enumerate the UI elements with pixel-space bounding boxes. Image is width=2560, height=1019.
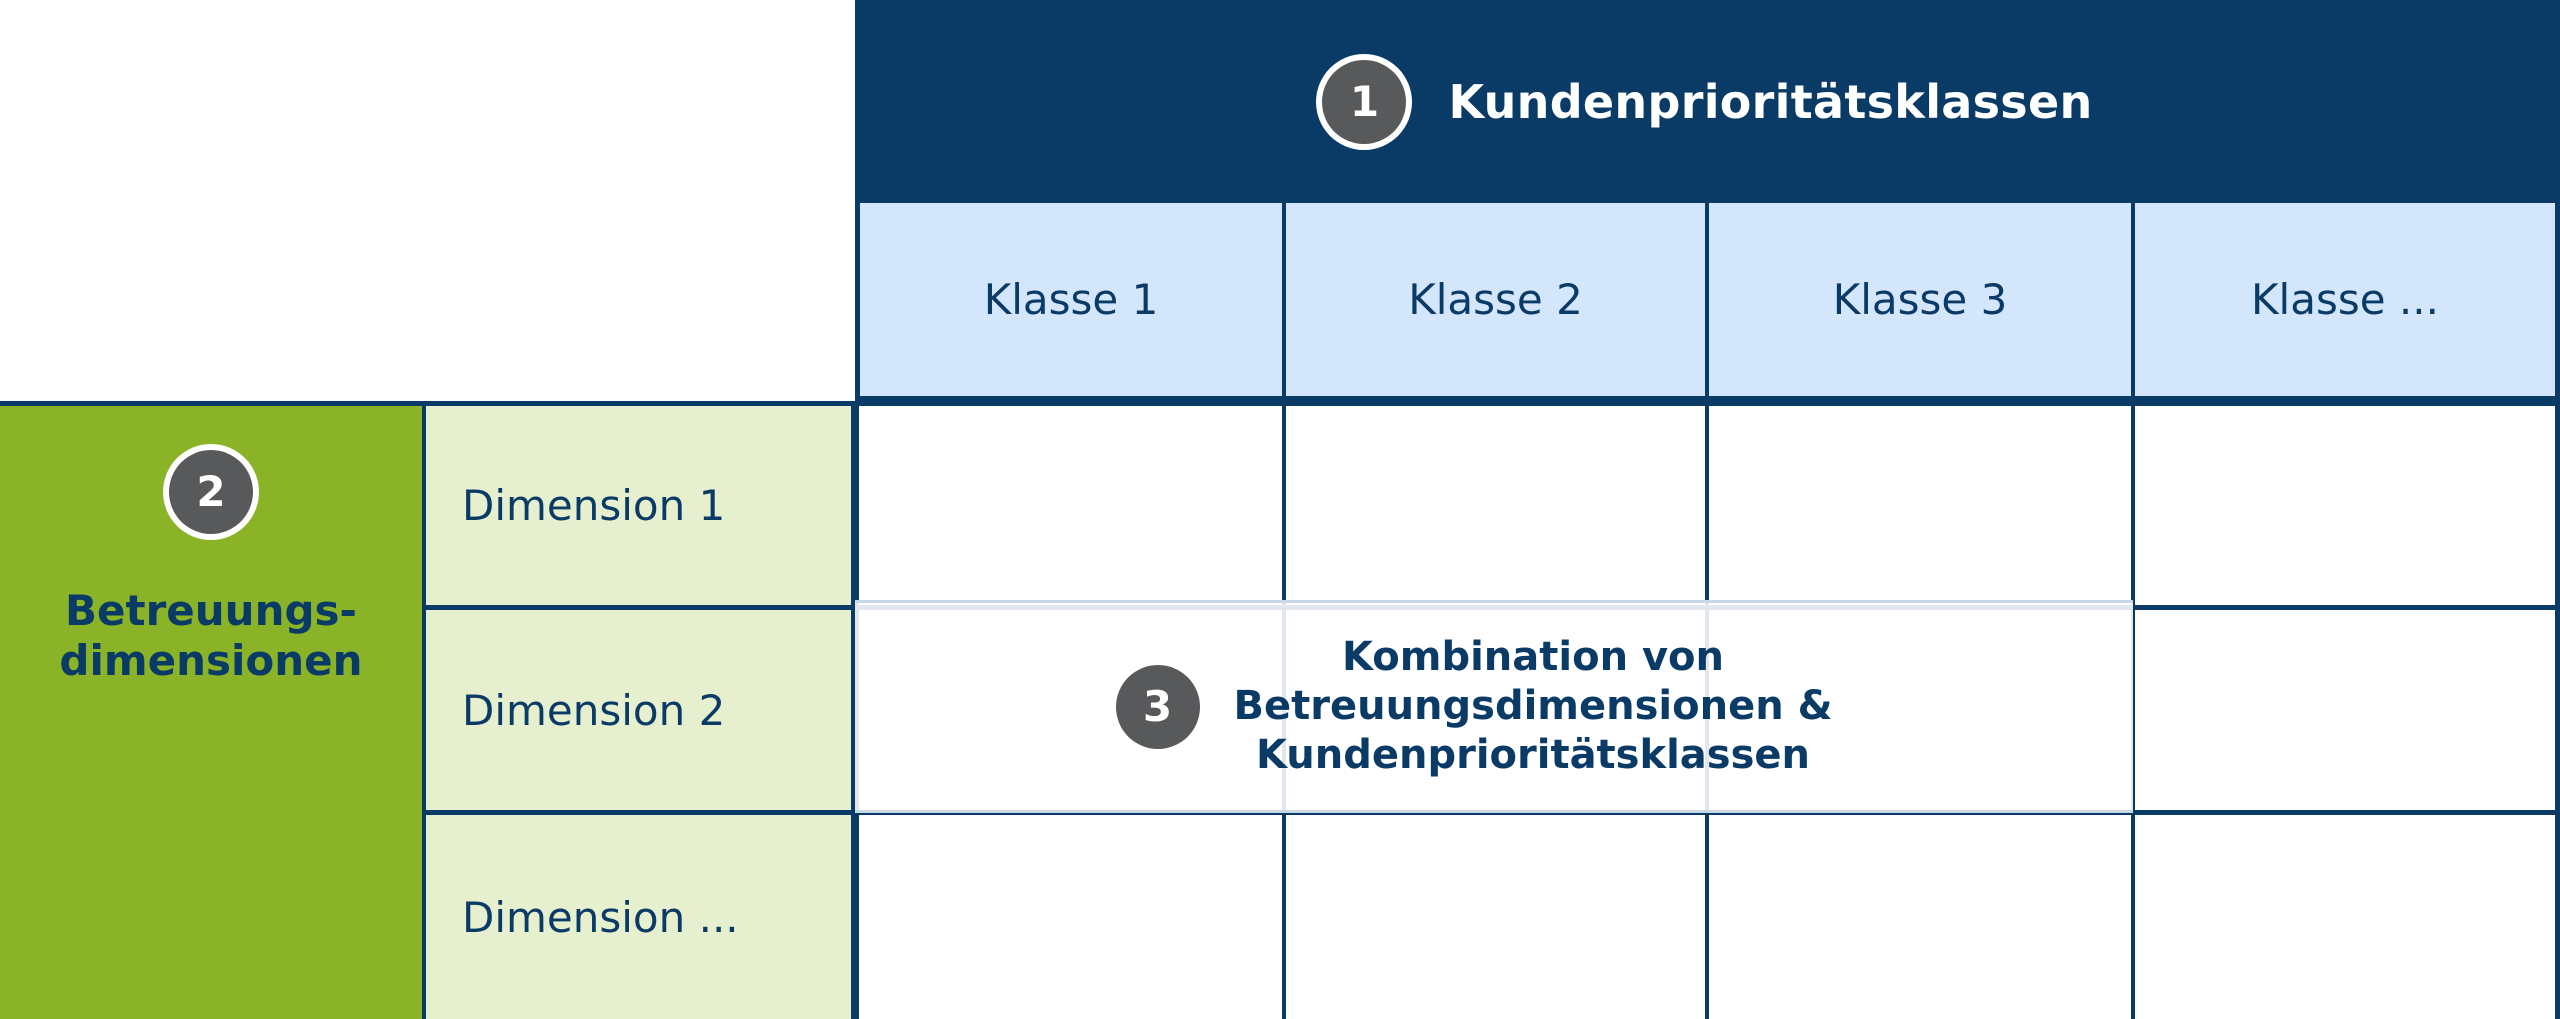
marker-badge-3: 3 [1116,665,1200,749]
row-header-label: Dimension ... [462,893,739,942]
row-group-title: Betreuungs- dimensionen [49,586,372,685]
row-group-header: 2 Betreuungs- dimensionen [0,401,426,1019]
matrix-cell-r3c3[interactable] [1705,810,2131,1019]
marker-badge-1: 1 [1322,60,1406,144]
column-header-klasse-2[interactable]: Klasse 2 [1282,203,1705,401]
matrix-cell-r3c2[interactable] [1282,810,1705,1019]
matrix-cell-r1c1[interactable] [855,401,1282,605]
matrix-cell-r2c4[interactable] [2131,605,2560,810]
row-header-label: Dimension 2 [462,686,725,735]
marker-badge-2-wrap: 2 [169,450,253,534]
matrix-diagram: 1 Kundenprioritätsklassen Klasse 1 Klass… [0,0,2560,1019]
row-header-dimension-1[interactable]: Dimension 1 [426,401,855,605]
column-header-label: Klasse 2 [1408,275,1583,324]
matrix-cell-r3c1[interactable] [855,810,1282,1019]
row-header-dimension-more[interactable]: Dimension ... [426,810,855,1019]
combination-callout: 3 Kombination von Betreuungsdimensionen … [855,600,2133,813]
column-header-label: Klasse 3 [1833,275,2008,324]
column-header-klasse-3[interactable]: Klasse 3 [1705,203,2131,401]
column-header-klasse-more[interactable]: Klasse ... [2131,203,2560,401]
matrix-cell-r1c4[interactable] [2131,401,2560,605]
marker-badge-2: 2 [169,450,253,534]
column-group-title: Kundenprioritätsklassen [1448,75,2092,129]
combination-callout-text: Kombination von Betreuungsdimensionen & … [1234,633,1833,779]
row-header-dimension-2[interactable]: Dimension 2 [426,605,855,810]
column-header-klasse-1[interactable]: Klasse 1 [855,203,1282,401]
column-header-label: Klasse 1 [984,275,1159,324]
matrix-cell-r3c4[interactable] [2131,810,2560,1019]
matrix-cell-r1c3[interactable] [1705,401,2131,605]
column-group-header: 1 Kundenprioritätsklassen [855,0,2560,203]
column-header-label: Klasse ... [2251,275,2439,324]
row-header-label: Dimension 1 [462,481,725,530]
matrix-cell-r1c2[interactable] [1282,401,1705,605]
